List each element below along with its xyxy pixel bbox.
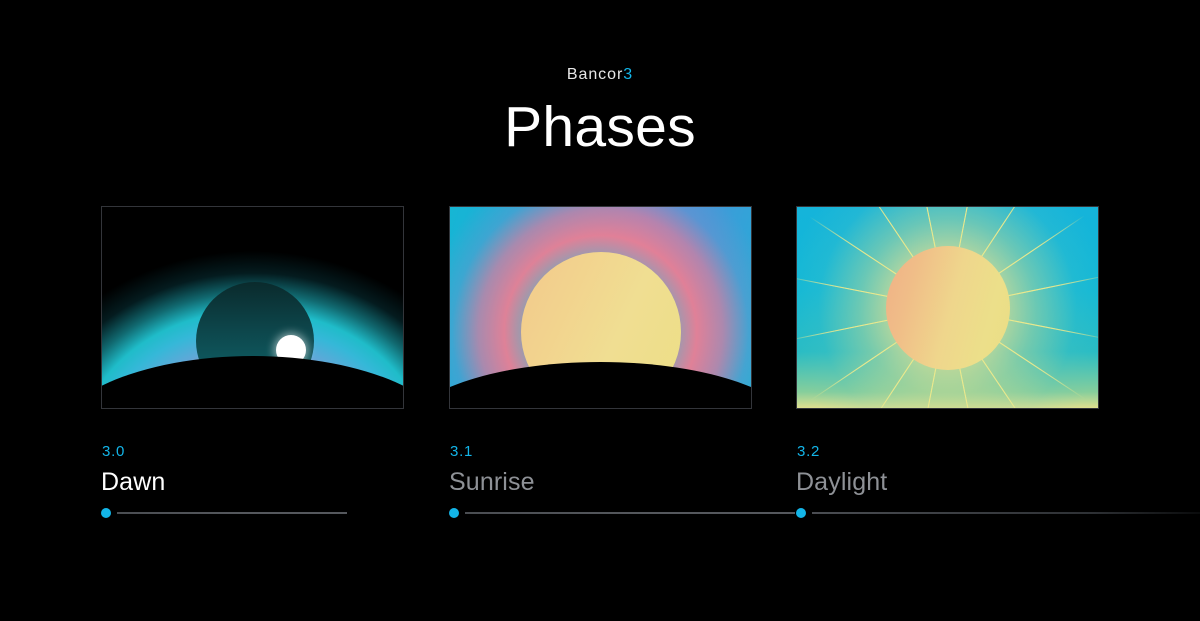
timeline-segment-1 xyxy=(117,512,347,514)
phase-card-dawn[interactable]: 3.0 Dawn xyxy=(101,206,404,409)
dawn-scene xyxy=(102,207,403,408)
phase-card-sunrise[interactable]: 3.1 Sunrise xyxy=(449,206,752,409)
timeline-segment-2 xyxy=(465,512,795,514)
daylight-scene xyxy=(797,207,1098,408)
phase-name-sunrise: Sunrise xyxy=(449,468,535,497)
slide-root: Bancor3 Phases 3.0 Dawn xyxy=(0,0,1200,621)
phase-card-daylight[interactable]: 3.2 Daylight xyxy=(796,206,1099,409)
phase-thumbnail-dawn[interactable] xyxy=(101,206,404,409)
timeline-dot-dawn[interactable] xyxy=(101,508,111,518)
yellow-sun-icon xyxy=(886,246,1010,370)
phase-timeline xyxy=(0,507,1200,527)
timeline-dot-sunrise[interactable] xyxy=(449,508,459,518)
phase-name-dawn: Dawn xyxy=(101,468,165,497)
brand-name: Bancor xyxy=(567,66,623,83)
phase-thumbnail-daylight[interactable] xyxy=(796,206,1099,409)
brand-wordmark: Bancor3 xyxy=(0,66,1200,84)
phase-number-daylight: 3.2 xyxy=(797,443,820,460)
timeline-segment-3 xyxy=(812,512,1200,514)
phase-card-row: 3.0 Dawn 3.1 Sunrise xyxy=(0,206,1200,526)
page-title: Phases xyxy=(0,98,1200,158)
brand-version: 3 xyxy=(623,66,633,83)
phase-name-daylight: Daylight xyxy=(796,468,887,497)
phase-thumbnail-sunrise[interactable] xyxy=(449,206,752,409)
sunrise-scene xyxy=(450,207,751,408)
timeline-dot-daylight[interactable] xyxy=(796,508,806,518)
phase-number-sunrise: 3.1 xyxy=(450,443,473,460)
phase-number-dawn: 3.0 xyxy=(102,443,125,460)
